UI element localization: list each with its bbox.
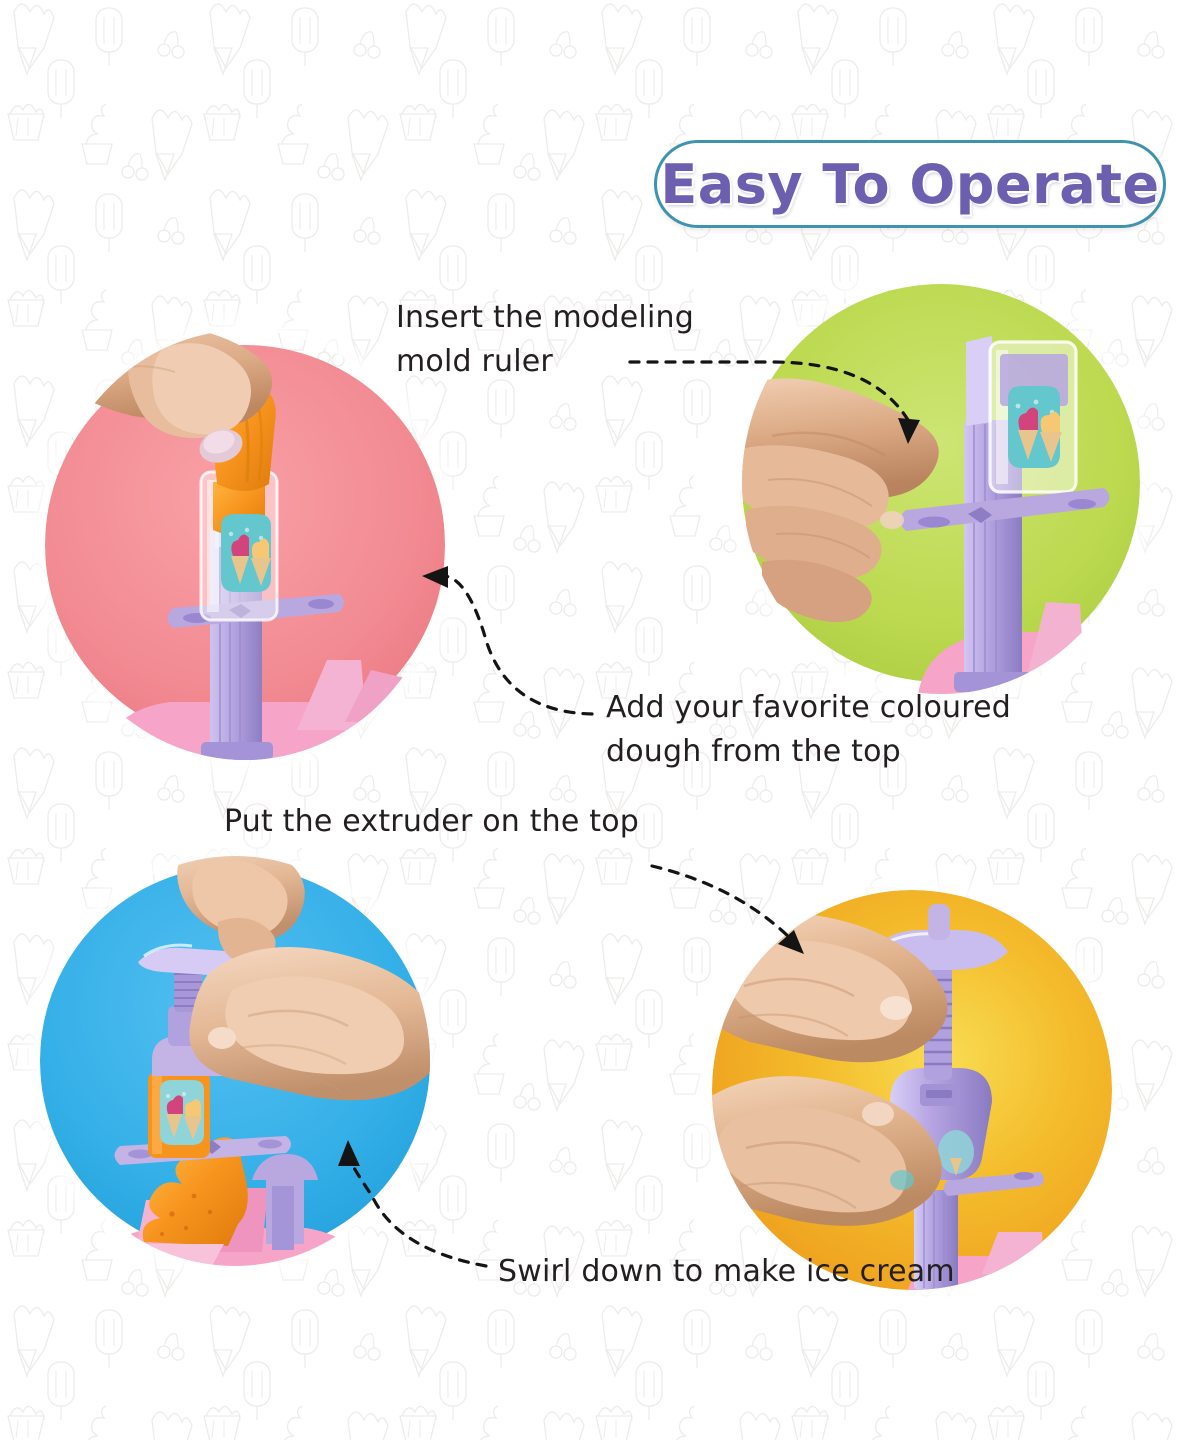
photo-insert-mold-ruler: [742, 272, 1140, 694]
caption-insert-mold-ruler: Insert the modeling mold ruler: [396, 296, 726, 383]
photo-swirl-down: [712, 890, 1112, 1290]
photo-put-extruder: [40, 856, 430, 1266]
caption-swirl-down: Swirl down to make ice cream: [498, 1250, 978, 1294]
caption-put-extruder: Put the extruder on the top: [224, 800, 694, 844]
arrow-step-2: [422, 566, 592, 714]
page-title-pill: Easy To Operate: [654, 140, 1166, 228]
caption-add-dough: Add your favorite coloured dough from th…: [606, 686, 1056, 773]
page-title: Easy To Operate: [660, 153, 1159, 216]
photo-add-dough: [45, 330, 445, 760]
